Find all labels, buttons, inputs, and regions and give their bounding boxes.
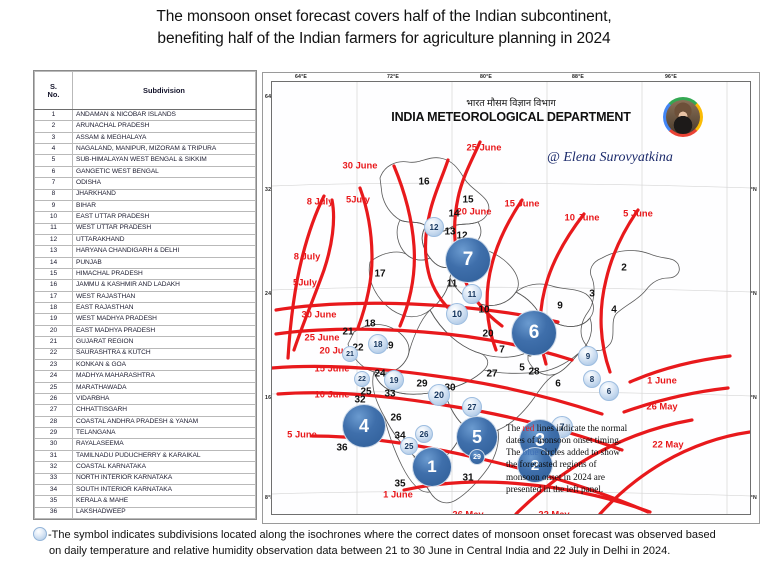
cell-subdivision: LAKSHADWEEP	[73, 507, 256, 518]
subdivision-number-label: 26	[390, 413, 401, 424]
cell-subdivision: NORTH INTERIOR KARNATAKA	[73, 473, 256, 484]
cell-subdivision: TELANGANA	[73, 428, 256, 439]
table-row: 6GANGETIC WEST BENGAL	[35, 166, 256, 177]
isochrone-date-label: 8 July	[294, 251, 321, 262]
table-row: 25MARATHAWADA	[35, 382, 256, 393]
forecast-bubble: 9	[578, 346, 598, 366]
cell-subdivision: MARATHAWADA	[73, 382, 256, 393]
table-row: 34SOUTH INTERIOR KARNATAKA	[35, 484, 256, 495]
table-row: 29TELANGANA	[35, 428, 256, 439]
forecast-bubble: 1	[412, 447, 452, 487]
isochrone-date-label: 26 May	[646, 401, 677, 412]
cell-serial: 32	[35, 462, 73, 473]
cell-serial: 7	[35, 178, 73, 189]
cell-subdivision: JAMMU & KASHMIR AND LADAKH	[73, 280, 256, 291]
subdivision-number-label: 28	[528, 367, 539, 378]
legend-symbol-icon	[33, 527, 47, 541]
subdivision-table-panel: S. No. Subdivision 1ANDAMAN & NICOBAR IS…	[33, 70, 257, 520]
table-row: 9BIHAR	[35, 200, 256, 211]
cell-serial: 8	[35, 189, 73, 200]
forecast-bubble: 29	[469, 449, 485, 465]
note-line-3: The blue circles added to show	[506, 446, 706, 458]
forecast-bubble: 20	[428, 384, 450, 406]
footer-caption: -The symbol indicates subdivisions locat…	[33, 527, 753, 560]
isochrone-date-label: 26 May	[452, 509, 483, 516]
cell-serial: 29	[35, 428, 73, 439]
subdivision-number-label: 33	[384, 389, 395, 400]
cell-serial: 3	[35, 132, 73, 143]
cell-subdivision: ASSAM & MEGHALAYA	[73, 132, 256, 143]
forecast-bubble: 19	[384, 370, 404, 390]
avatar-face	[666, 100, 700, 134]
forecast-bubble: 12	[424, 217, 444, 237]
subdivision-number-label: 35	[394, 479, 405, 490]
table-row: 12UTTARAKHAND	[35, 234, 256, 245]
table-row: 23KONKAN & GOA	[35, 359, 256, 370]
cell-serial: 15	[35, 269, 73, 280]
cell-subdivision: TAMILNADU PUDUCHERRY & KARAIKAL	[73, 450, 256, 461]
cell-serial: 34	[35, 484, 73, 495]
table-row: 3ASSAM & MEGHALAYA	[35, 132, 256, 143]
cell-subdivision: VIDARBHA	[73, 393, 256, 404]
cell-subdivision: GUJARAT REGION	[73, 337, 256, 348]
subdivision-number-label: 16	[418, 177, 429, 188]
cell-serial: 35	[35, 496, 73, 507]
cell-subdivision: COASTAL KARNATAKA	[73, 462, 256, 473]
page-title-line-1: The monsoon onset forecast covers half o…	[0, 6, 768, 28]
forecast-bubble: 8	[583, 370, 601, 388]
isochrone-date-label: 10 June	[565, 212, 600, 223]
cell-serial: 36	[35, 507, 73, 518]
forecast-bubble: 10	[446, 303, 468, 325]
table-row: 1ANDAMAN & NICOBAR ISLANDS	[35, 110, 256, 121]
lon-tick-4: 96°E	[665, 74, 677, 80]
cell-subdivision: MADHYA MAHARASHTRA	[73, 371, 256, 382]
cell-subdivision: WEST RAJASTHAN	[73, 291, 256, 302]
table-row: 18EAST RAJASTHAN	[35, 303, 256, 314]
isochrone-date-label: 10 June	[315, 389, 350, 400]
note-line-4: the forecasted regions of	[506, 458, 706, 470]
subdivision-number-label: 20	[482, 329, 493, 340]
isochrone-date-label: 8 July	[307, 196, 334, 207]
india-map-panel: 64°E72°E80°E88°E96°E 32°N24°N16°N8°N 32°…	[262, 72, 760, 524]
forecast-bubble: 21	[342, 346, 358, 362]
table-row: 11WEST UTTAR PRADESH	[35, 223, 256, 234]
cell-serial: 10	[35, 212, 73, 223]
subdivision-number-label: 31	[462, 473, 473, 484]
table-row: 28COASTAL ANDHRA PRADESH & YANAM	[35, 416, 256, 427]
cell-serial: 2	[35, 121, 73, 132]
cell-subdivision: RAYALASEEMA	[73, 439, 256, 450]
cell-serial: 28	[35, 416, 73, 427]
cell-subdivision: SAURASHTRA & KUTCH	[73, 348, 256, 359]
forecast-bubble: 4	[342, 404, 386, 448]
cell-serial: 22	[35, 348, 73, 359]
cell-serial: 18	[35, 303, 73, 314]
lon-tick-0: 64°E	[295, 74, 307, 80]
cell-subdivision: HIMACHAL PRADESH	[73, 269, 256, 280]
isochrone-date-label: 5 June	[623, 208, 653, 219]
forecast-bubble: 26	[415, 425, 433, 443]
cell-subdivision: WEST MADHYA PRADESH	[73, 314, 256, 325]
isochrone-date-label: 15 June	[315, 363, 350, 374]
subdivision-number-label: 18	[364, 319, 375, 330]
table-row: 35KERALA & MAHE	[35, 496, 256, 507]
subdivision-number-label: 2	[621, 263, 627, 274]
table-row: 17WEST RAJASTHAN	[35, 291, 256, 302]
cell-serial: 19	[35, 314, 73, 325]
table-row: 33NORTH INTERIOR KARNATAKA	[35, 473, 256, 484]
isochrone-date-label: 15 June	[505, 198, 540, 209]
subdivision-number-label: 14	[448, 209, 459, 220]
forecast-bubble: 18	[368, 334, 388, 354]
author-byline: @ Elena Surovyatkina	[547, 150, 673, 166]
table-row: 36LAKSHADWEEP	[35, 507, 256, 518]
column-header-serial-number: S. No.	[35, 72, 73, 110]
isochrone-date-label: 22 May	[538, 509, 569, 516]
cell-subdivision: WEST UTTAR PRADESH	[73, 223, 256, 234]
table-row: 8JHARKHAND	[35, 189, 256, 200]
table-row: 16JAMMU & KASHMIR AND LADAKH	[35, 280, 256, 291]
caption-line-1: -The symbol indicates subdivisions locat…	[48, 529, 716, 541]
table-row: 13HARYANA CHANDIGARH & DELHI	[35, 246, 256, 257]
subdivision-number-label: 3	[589, 289, 595, 300]
cell-serial: 27	[35, 405, 73, 416]
subdivision-number-label: 7	[499, 345, 505, 356]
table-row: 31TAMILNADU PUDUCHERRY & KARAIKAL	[35, 450, 256, 461]
table-body: 1ANDAMAN & NICOBAR ISLANDS2ARUNACHAL PRA…	[35, 110, 256, 519]
cell-serial: 21	[35, 337, 73, 348]
cell-serial: 33	[35, 473, 73, 484]
column-header-serial-line-2: No.	[38, 91, 69, 98]
isochrone-date-label: 30 June	[302, 309, 337, 320]
map-canvas: भारत मौसम विज्ञान विभाग INDIA METEOROLOG…	[271, 81, 751, 515]
subdivision-number-label: 5	[519, 363, 525, 374]
cell-serial: 20	[35, 325, 73, 336]
subdivision-number-label: 4	[611, 305, 617, 316]
subdivision-number-label: 29	[416, 379, 427, 390]
cell-serial: 25	[35, 382, 73, 393]
isochrone-date-label: 1 June	[647, 375, 677, 386]
table-row: 2ARUNACHAL PRADESH	[35, 121, 256, 132]
lon-tick-3: 88°E	[572, 74, 584, 80]
table-row: 20EAST MADHYA PRADESH	[35, 325, 256, 336]
forecast-bubble: 6	[599, 381, 619, 401]
isochrone-date-label: 20 June	[457, 206, 492, 217]
table-row: 30RAYALASEEMA	[35, 439, 256, 450]
table-row: 19WEST MADHYA PRADESH	[35, 314, 256, 325]
cell-serial: 23	[35, 359, 73, 370]
subdivision-number-label: 11	[447, 279, 458, 290]
forecast-bubble: 6	[511, 310, 557, 356]
isochrone-date-label: 5July	[346, 194, 370, 205]
lon-tick-2: 80°E	[480, 74, 492, 80]
table-row: 32COASTAL KARNATAKA	[35, 462, 256, 473]
page-title-line-2: benefiting half of the Indian farmers fo…	[0, 28, 768, 50]
forecast-bubble: 25	[400, 437, 418, 455]
cell-serial: 17	[35, 291, 73, 302]
cell-serial: 30	[35, 439, 73, 450]
table-row: 7ODISHA	[35, 178, 256, 189]
isochrone-date-label: 5July	[293, 277, 317, 288]
cell-subdivision: HARYANA CHANDIGARH & DELHI	[73, 246, 256, 257]
cell-subdivision: KERALA & MAHE	[73, 496, 256, 507]
subdivision-number-label: 17	[374, 269, 385, 280]
table-row: 24MADHYA MAHARASHTRA	[35, 371, 256, 382]
column-header-subdivision: Subdivision	[73, 72, 256, 110]
cell-serial: 5	[35, 155, 73, 166]
forecast-bubble: 27	[462, 397, 482, 417]
note-line-5: monsoon onset in 2024 are	[506, 471, 706, 483]
cell-subdivision: UTTARAKHAND	[73, 234, 256, 245]
note-line-2: dates of monsoon onset timing.	[506, 434, 706, 446]
author-avatar	[663, 97, 703, 137]
cell-subdivision: ANDAMAN & NICOBAR ISLANDS	[73, 110, 256, 121]
note-line-1: The red lines indicate the normal	[506, 422, 706, 434]
cell-subdivision: ARUNACHAL PRADESH	[73, 121, 256, 132]
subdivision-number-label: 10	[478, 305, 489, 316]
cell-subdivision: EAST UTTAR PRADESH	[73, 212, 256, 223]
isochrone-date-label: 25 June	[305, 332, 340, 343]
cell-serial: 26	[35, 393, 73, 404]
forecast-bubble: 22	[354, 371, 370, 387]
isochrone-date-label: 30 June	[343, 160, 378, 171]
note-line-6: presented in the left panel.	[506, 483, 706, 495]
lon-tick-1: 72°E	[387, 74, 399, 80]
cell-subdivision: BIHAR	[73, 200, 256, 211]
table-row: 10EAST UTTAR PRADESH	[35, 212, 256, 223]
cell-subdivision: GANGETIC WEST BENGAL	[73, 166, 256, 177]
table-header: S. No. Subdivision	[35, 72, 256, 110]
subdivision-number-label: 9	[557, 301, 563, 312]
table-row: 27CHHATTISGARH	[35, 405, 256, 416]
cell-serial: 16	[35, 280, 73, 291]
isochrone-date-label: 5 June	[287, 429, 317, 440]
table-row: 5SUB-HIMALAYAN WEST BENGAL & SIKKIM	[35, 155, 256, 166]
subdivision-number-label: 36	[336, 443, 347, 454]
table-header-row: S. No. Subdivision	[35, 72, 256, 110]
table-row: 26VIDARBHA	[35, 393, 256, 404]
subdivision-number-label: 15	[462, 195, 473, 206]
isochrone-date-label: 1 June	[383, 489, 413, 500]
isochrone-date-label: 25 June	[467, 142, 502, 153]
imd-hindi-title: भारत मौसम विज्ञान विभाग	[466, 96, 556, 109]
subdivision-number-label: 27	[486, 369, 497, 380]
caption-line-2: on daily temperature and relative humidi…	[49, 544, 753, 560]
subdivision-number-label: 13	[444, 227, 455, 238]
cell-subdivision: PUNJAB	[73, 257, 256, 268]
cell-serial: 6	[35, 166, 73, 177]
forecast-bubble: 7	[445, 237, 491, 283]
forecast-bubble: 11	[462, 284, 482, 304]
cell-subdivision: CHHATTISGARH	[73, 405, 256, 416]
cell-serial: 31	[35, 450, 73, 461]
note-blue-word: blue	[523, 447, 539, 457]
cell-subdivision: EAST RAJASTHAN	[73, 303, 256, 314]
subdivision-table: S. No. Subdivision 1ANDAMAN & NICOBAR IS…	[34, 71, 256, 519]
subdivision-number-label: 6	[555, 379, 561, 390]
map-legend-note: The red lines indicate the normal dates …	[506, 422, 706, 495]
imd-english-title: INDIA METEOROLOGICAL DEPARTMENT	[391, 110, 630, 124]
table-row: 21GUJARAT REGION	[35, 337, 256, 348]
cell-subdivision: ODISHA	[73, 178, 256, 189]
cell-subdivision: SOUTH INTERIOR KARNATAKA	[73, 484, 256, 495]
note-red-word: red	[523, 423, 535, 433]
cell-subdivision: JHARKHAND	[73, 189, 256, 200]
cell-subdivision: EAST MADHYA PRADESH	[73, 325, 256, 336]
cell-subdivision: SUB-HIMALAYAN WEST BENGAL & SIKKIM	[73, 155, 256, 166]
cell-serial: 1	[35, 110, 73, 121]
cell-serial: 11	[35, 223, 73, 234]
subdivision-number-label: 21	[342, 327, 353, 338]
cell-subdivision: KONKAN & GOA	[73, 359, 256, 370]
table-row: 14PUNJAB	[35, 257, 256, 268]
cell-serial: 24	[35, 371, 73, 382]
cell-serial: 13	[35, 246, 73, 257]
table-row: 22SAURASHTRA & KUTCH	[35, 348, 256, 359]
cell-serial: 9	[35, 200, 73, 211]
table-row: 4NAGALAND, MANIPUR, MIZORAM & TRIPURA	[35, 144, 256, 155]
cell-serial: 12	[35, 234, 73, 245]
cell-subdivision: NAGALAND, MANIPUR, MIZORAM & TRIPURA	[73, 144, 256, 155]
cell-subdivision: COASTAL ANDHRA PRADESH & YANAM	[73, 416, 256, 427]
cell-serial: 4	[35, 144, 73, 155]
page-title: The monsoon onset forecast covers half o…	[0, 6, 768, 51]
table-row: 15HIMACHAL PRADESH	[35, 269, 256, 280]
cell-serial: 14	[35, 257, 73, 268]
